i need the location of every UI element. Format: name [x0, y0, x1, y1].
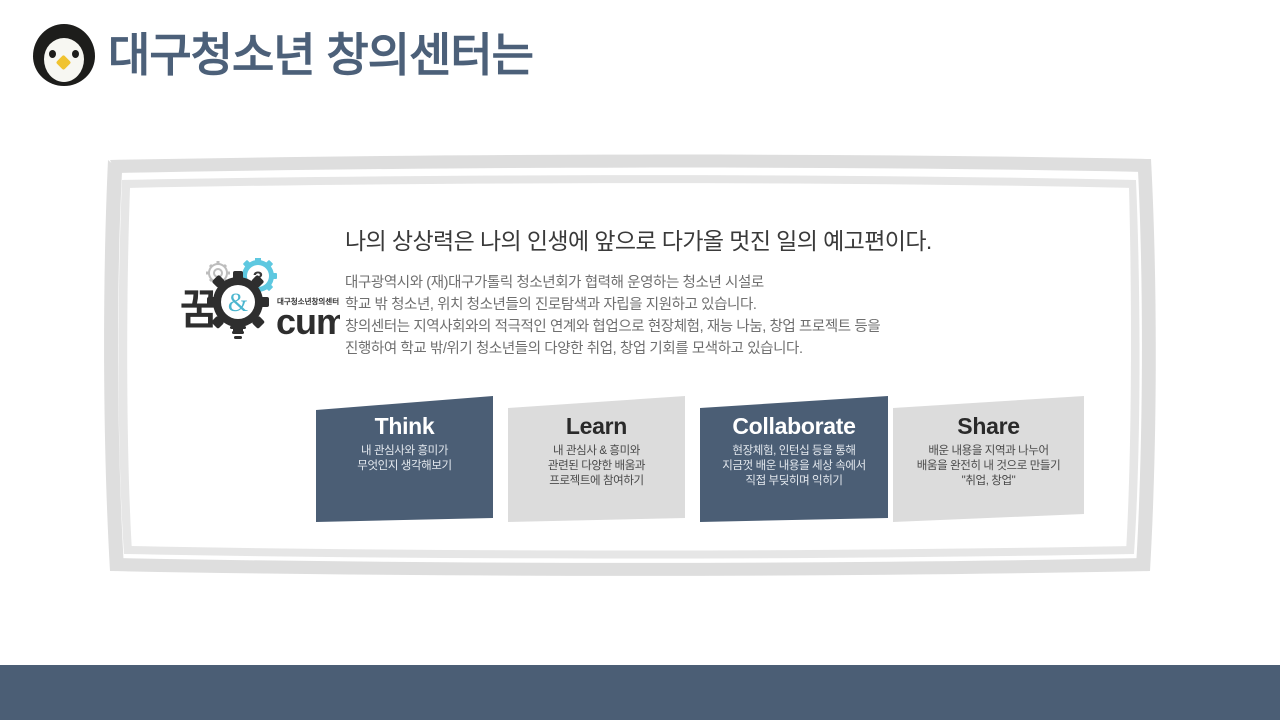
svg-text:&: &: [228, 288, 248, 317]
step-desc-line: 내 관심사와 흥미가: [357, 444, 451, 459]
logo-wordmark: cum: [276, 301, 340, 342]
step-card-share[interactable]: Share 배운 내용을 지역과 나누어 배움을 완전히 내 것으로 만들기 "…: [893, 396, 1084, 522]
logo-caption: 대구청소년창의센터: [277, 296, 339, 306]
cum-logo: ? &: [176, 258, 340, 342]
logo-korean-word: 꿈: [180, 286, 219, 333]
penguin-icon: [33, 24, 95, 86]
step-desc-line: 지금껏 배운 내용을 세상 속에서: [722, 459, 866, 474]
step-desc-line: 배운 내용을 지역과 나누어: [917, 444, 1061, 459]
step-desc-line: 무엇인지 생각해보기: [357, 459, 451, 474]
step-desc-line: 현장체험, 인턴십 등을 통해: [722, 444, 866, 459]
step-title: Learn: [566, 413, 627, 439]
bottom-accent-bar: [0, 665, 1280, 720]
main-headline: 나의 상상력은 나의 인생에 앞으로 다가올 멋진 일의 예고편이다.: [345, 222, 932, 256]
main-paragraph: 대구광역시와 (재)대구가톨릭 청소년회가 협력해 운영하는 청소년 시설로 학…: [345, 272, 880, 360]
step-title: Share: [957, 413, 1019, 439]
paragraph-line: 창의센터는 지역사회와의 적극적인 연계와 협업으로 현장체험, 재능 나눔, …: [345, 316, 880, 338]
paragraph-line: 대구광역시와 (재)대구가톨릭 청소년회가 협력해 운영하는 청소년 시설로: [345, 272, 880, 294]
step-desc-line: 내 관심사 & 흥미와: [548, 444, 645, 459]
page-header: 대구청소년 창의센터는: [0, 0, 1280, 110]
paragraph-line: 진행하여 학교 밖/위기 청소년들의 다양한 취업, 창업 기회를 모색하고 있…: [345, 338, 880, 360]
step-title: Think: [375, 413, 435, 439]
step-desc-line: 관련된 다양한 배움과: [548, 459, 645, 474]
page-title: 대구청소년 창의센터는: [108, 32, 533, 78]
step-desc-line: 배움을 완전히 내 것으로 만들기: [917, 459, 1061, 474]
step-description: 현장체험, 인턴십 등을 통해 지금껏 배운 내용을 세상 속에서 직접 부딪히…: [722, 444, 866, 489]
step-card-collaborate[interactable]: Collaborate 현장체험, 인턴십 등을 통해 지금껏 배운 내용을 세…: [700, 396, 888, 522]
step-card-learn[interactable]: Learn 내 관심사 & 흥미와 관련된 다양한 배움과 프로젝트에 참여하기: [508, 396, 685, 522]
penguin-eye-left: [49, 50, 56, 58]
step-title: Collaborate: [732, 413, 855, 439]
step-description: 배운 내용을 지역과 나누어 배움을 완전히 내 것으로 만들기 "취업, 창업…: [917, 444, 1061, 489]
step-desc-line: 프로젝트에 참여하기: [548, 474, 645, 489]
penguin-eye-right: [72, 50, 79, 58]
step-description: 내 관심사와 흥미가 무엇인지 생각해보기: [357, 444, 451, 474]
steps-row: Think 내 관심사와 흥미가 무엇인지 생각해보기 Learn 내 관심사 …: [316, 396, 1084, 522]
step-description: 내 관심사 & 흥미와 관련된 다양한 배움과 프로젝트에 참여하기: [548, 444, 645, 489]
step-desc-line: 직접 부딪히며 익히기: [722, 474, 866, 489]
step-desc-line: "취업, 창업": [917, 474, 1061, 489]
step-card-think[interactable]: Think 내 관심사와 흥미가 무엇인지 생각해보기: [316, 396, 493, 522]
paragraph-line: 학교 밖 청소년, 위치 청소년들의 진로탐색과 자립을 지원하고 있습니다.: [345, 294, 880, 316]
